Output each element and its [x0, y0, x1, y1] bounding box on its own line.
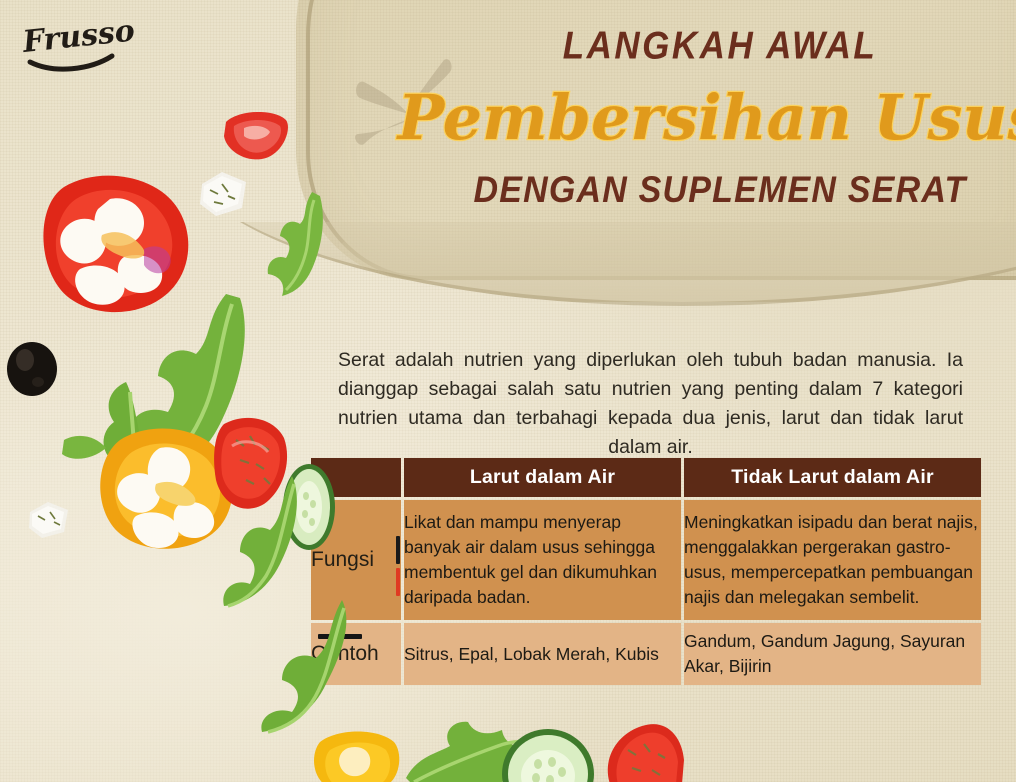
- brand-logo-text: Frusso: [20, 13, 136, 60]
- feta-cube: [26, 500, 72, 542]
- cell-contoh-insoluble: Gandum, Gandum Jagung, Sayuran Akar, Bij…: [684, 623, 981, 685]
- intro-paragraph: Serat adalah nutrien yang diperlukan ole…: [338, 346, 963, 462]
- table-header-blank: [311, 458, 401, 497]
- table-header-row: Larut dalam Air Tidak Larut dalam Air: [311, 458, 981, 497]
- fiber-comparison-table: Larut dalam Air Tidak Larut dalam Air Fu…: [308, 455, 984, 688]
- black-olive: [4, 340, 60, 398]
- brand-logo: Frusso: [18, 16, 138, 74]
- frisee-leaf: [196, 470, 316, 610]
- tomato-slice: [222, 108, 292, 164]
- yellow-bell-pepper-ring: [308, 728, 406, 782]
- tomato-wedge: [212, 412, 292, 516]
- cucumber-slice: [500, 724, 596, 782]
- frisee-leaf: [400, 712, 550, 782]
- row-label-contoh: Contoh: [311, 623, 401, 685]
- cell-fungsi-soluble: Likat dan mampu menyerap banyak air dala…: [404, 500, 681, 620]
- title-line-bottom: DENGAN SUPLEMEN SERAT: [440, 171, 1000, 208]
- cell-contoh-soluble: Sitrus, Epal, Lobak Merah, Kubis: [404, 623, 681, 685]
- feta-cube: [196, 170, 252, 220]
- yellow-bell-pepper-ring: [86, 420, 246, 560]
- cell-fungsi-insoluble: Meningkatkan isipadu dan berat najis, me…: [684, 500, 981, 620]
- row-label-fungsi: Fungsi: [311, 500, 401, 620]
- poster-canvas: Frusso LANGKAH AWAL Pembersihan Usus DEN…: [0, 0, 1016, 782]
- table-header-insoluble: Tidak Larut dalam Air: [684, 458, 981, 497]
- tomato-wedge: [600, 720, 686, 782]
- title-script-text: Pembersihan Usus: [396, 81, 1016, 154]
- table-row-fungsi: Fungsi Likat dan mampu menyerap banyak a…: [311, 500, 981, 620]
- red-bell-pepper-ring: [24, 165, 204, 325]
- title-line-script: Pembersihan Usus: [440, 77, 1000, 163]
- table-row-contoh: Contoh Sitrus, Epal, Lobak Merah, Kubis …: [311, 623, 981, 685]
- title-line-top: LANGKAH AWAL: [440, 26, 1000, 65]
- table-header-soluble: Larut dalam Air: [404, 458, 681, 497]
- frisee-leaf: [56, 284, 286, 514]
- title-block: LANGKAH AWAL Pembersihan Usus DENGAN SUP…: [440, 28, 1000, 207]
